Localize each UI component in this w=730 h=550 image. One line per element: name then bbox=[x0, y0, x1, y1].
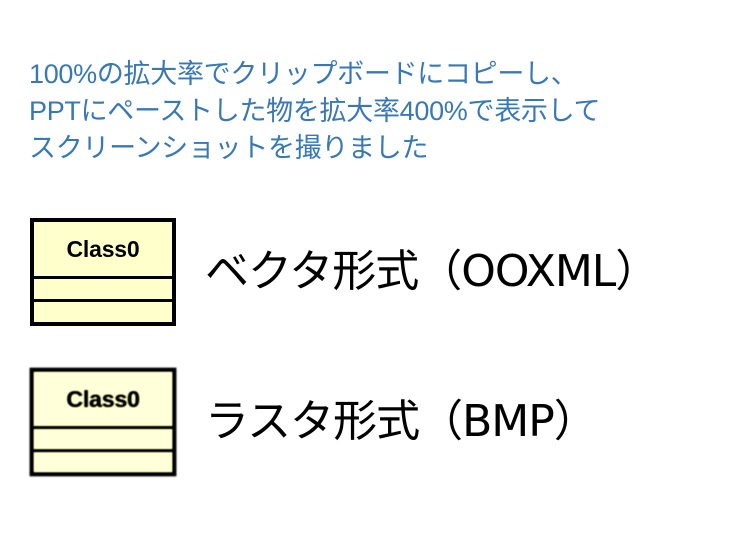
uml-class-box-vector: Class0 bbox=[30, 218, 176, 326]
header-text-block: 100%の拡大率でクリップボードにコピーし、 PPTにペーストした物を拡大率40… bbox=[29, 56, 719, 167]
header-line-3: スクリーンショットを撮りました bbox=[29, 130, 719, 167]
uml-attributes-compartment-vector bbox=[34, 276, 172, 299]
header-line-1: 100%の拡大率でクリップボードにコピーし、 bbox=[29, 56, 719, 93]
comparison-row-raster: Class0 ラスタ形式（BMP） bbox=[0, 369, 730, 475]
comparison-row-vector: Class0 ベクタ形式（OOXML） bbox=[0, 218, 730, 326]
uml-operations-compartment-raster bbox=[34, 449, 173, 472]
class-box-slot-raster: Class0 bbox=[0, 368, 205, 476]
header-line-2: PPTにペーストした物を拡大率400%で表示して bbox=[29, 93, 719, 130]
uml-attributes-compartment-raster bbox=[34, 426, 173, 449]
uml-class-name-raster: Class0 bbox=[34, 372, 173, 426]
uml-class-box-raster: Class0 bbox=[30, 368, 177, 477]
class-box-slot-vector: Class0 bbox=[0, 218, 205, 326]
format-label-vector: ベクタ形式（OOXML） bbox=[205, 250, 658, 294]
format-label-raster: ラスタ形式（BMP） bbox=[205, 400, 597, 444]
uml-operations-compartment-vector bbox=[34, 299, 172, 322]
uml-class-name-vector: Class0 bbox=[34, 222, 172, 276]
